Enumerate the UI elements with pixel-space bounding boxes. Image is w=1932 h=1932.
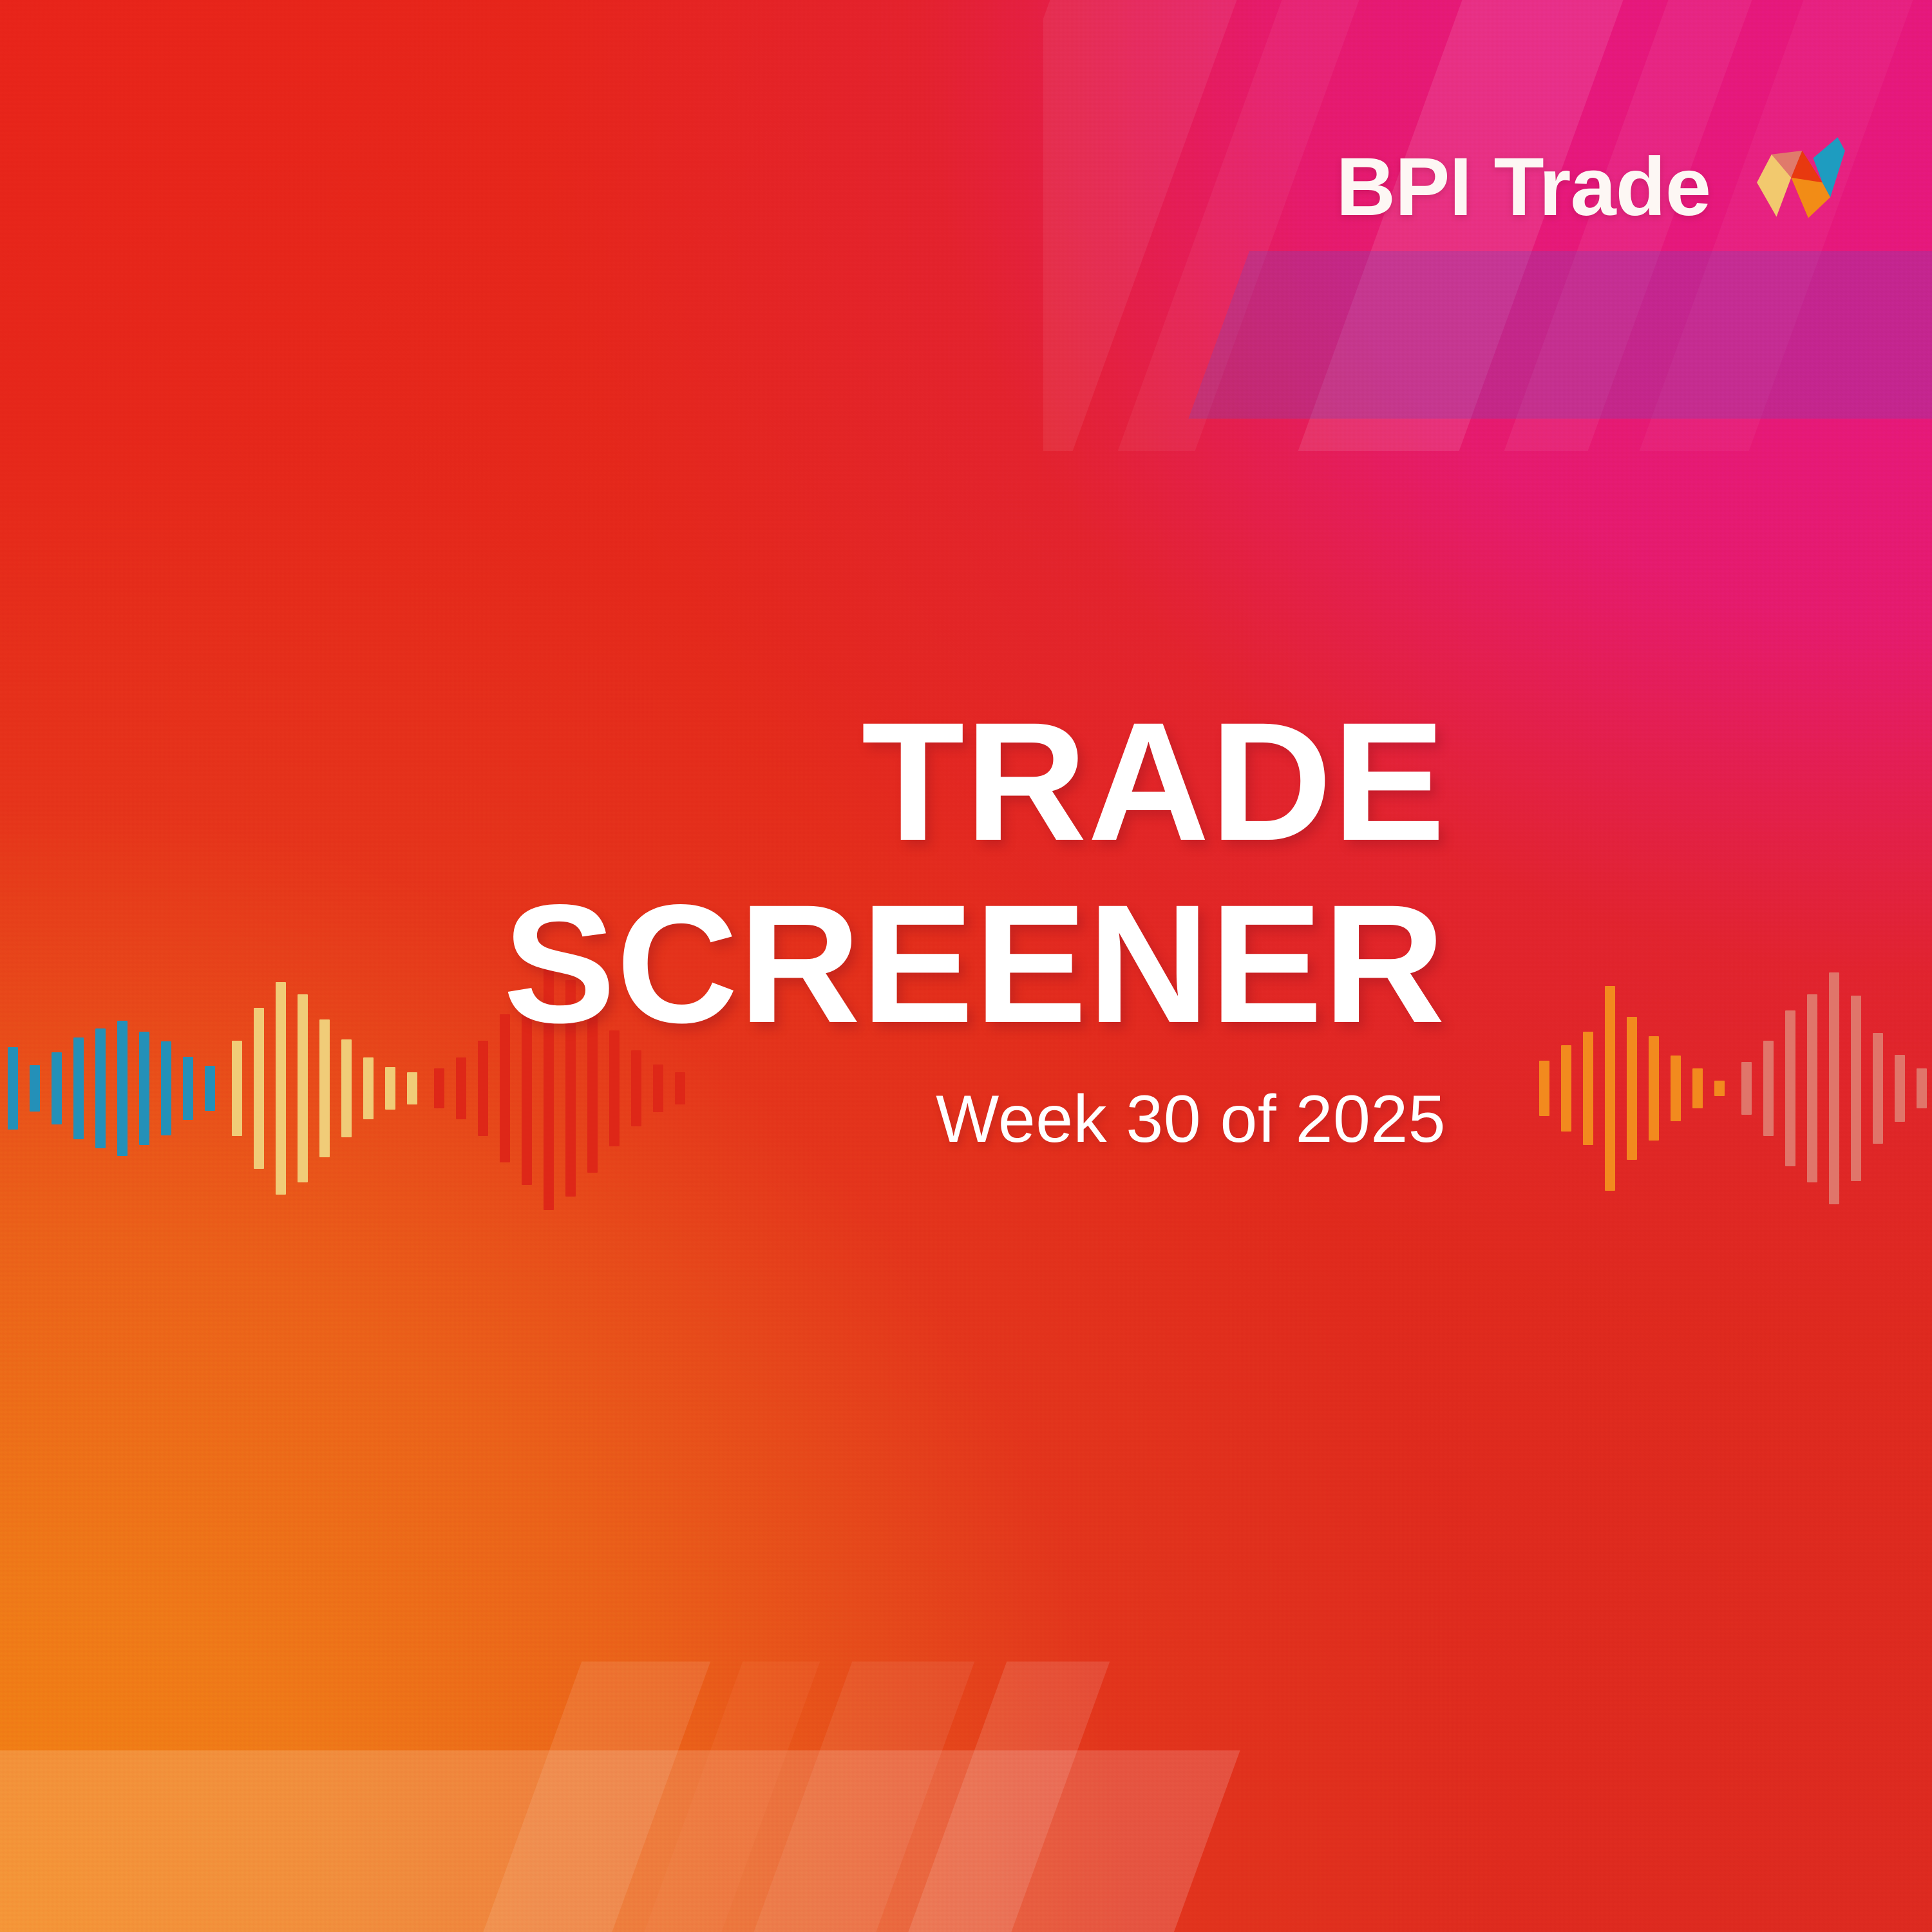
poster-canvas: BPI Trade TRADE SCREENER Week 30 of 2025 xyxy=(0,0,1932,1932)
page-title-line-1: TRADE xyxy=(0,702,1446,862)
bpi-trade-zigzag-logo-icon xyxy=(1734,126,1856,249)
headline-block: TRADE SCREENER Week 30 of 2025 xyxy=(0,702,1446,1155)
brand-wordmark: BPI Trade xyxy=(1336,146,1710,229)
page-title-line-2: SCREENER xyxy=(0,884,1446,1045)
brand-logo-lockup[interactable]: BPI Trade xyxy=(1336,126,1856,249)
page-subtitle: Week 30 of 2025 xyxy=(0,1084,1446,1155)
